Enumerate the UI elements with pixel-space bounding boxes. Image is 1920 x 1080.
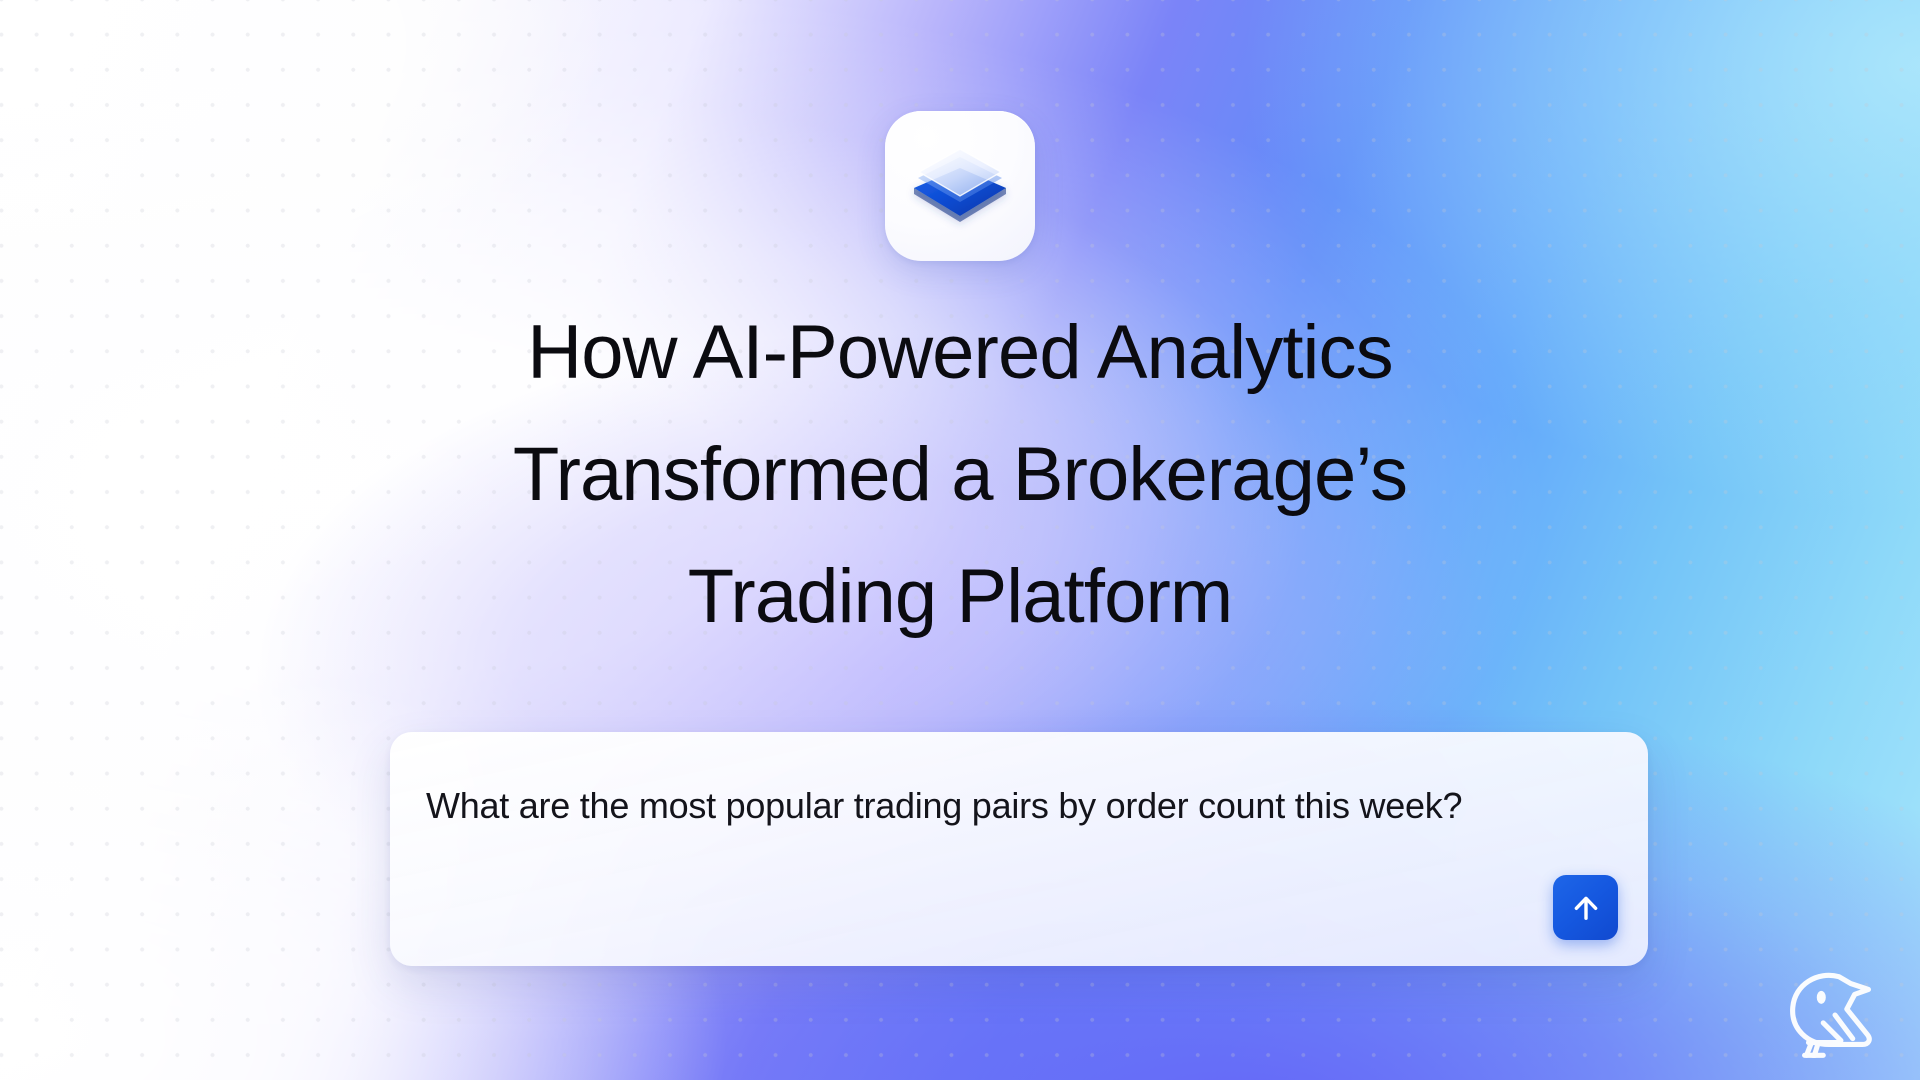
app-logo-badge xyxy=(885,111,1035,261)
page-title: How AI-Powered Analytics Transformed a B… xyxy=(0,292,1920,658)
prompt-submit-button[interactable] xyxy=(1553,875,1618,940)
cover-canvas: How AI-Powered Analytics Transformed a B… xyxy=(0,0,1920,1080)
prompt-input-value[interactable]: What are the most popular trading pairs … xyxy=(426,776,1550,835)
prompt-input-card[interactable]: What are the most popular trading pairs … xyxy=(390,732,1648,966)
layered-diamond-logo-icon xyxy=(906,132,1014,240)
bird-logo-icon xyxy=(1778,960,1896,1072)
arrow-up-icon xyxy=(1569,891,1603,925)
